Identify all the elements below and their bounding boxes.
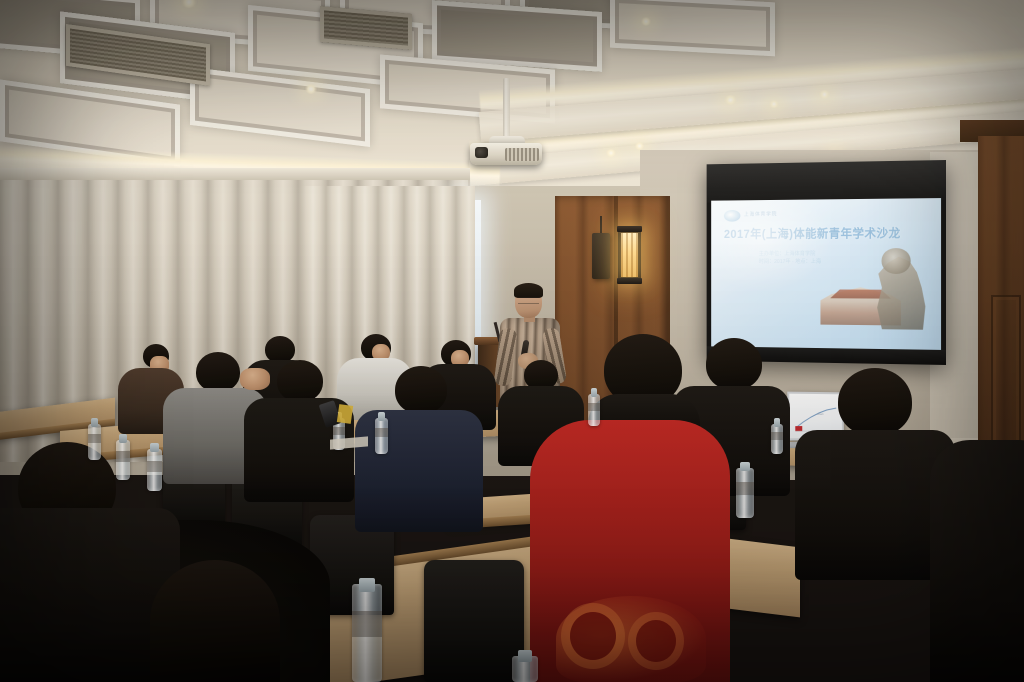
attendee-head (277, 360, 323, 402)
bottle-body (352, 584, 382, 682)
water-bottle[interactable] (736, 462, 754, 518)
downlight-icon (304, 84, 318, 94)
bottle-cap (150, 443, 158, 452)
bottle-label (333, 427, 345, 435)
slide-logo-icon (724, 210, 740, 222)
attendee-head (395, 366, 447, 414)
sconce-top-cap (617, 226, 642, 232)
water-bottle[interactable] (375, 412, 388, 454)
bottle-label (116, 451, 130, 461)
bottle-cap (91, 418, 98, 427)
projector-mount-pole (503, 78, 510, 140)
bottle-label (588, 403, 600, 411)
bottle-body (736, 468, 754, 518)
slide-logo-text: 上海体育学院 (744, 211, 777, 218)
projection-screen: 上海体育学院 2017年(上海)体能新青年学术沙龙 主办单位：上海体育学院 时间… (707, 160, 946, 365)
bottle-label (375, 428, 388, 437)
hoodie-print-glyph-2 (636, 620, 676, 662)
water-bottle[interactable] (116, 434, 130, 480)
sconce-glass-panel (621, 233, 638, 277)
eyeglasses-icon (518, 297, 539, 304)
bottle-cap (591, 388, 598, 397)
ceiling-coffer (610, 0, 775, 56)
smoke-detector-icon (640, 17, 652, 26)
slide-subtitle-line-1: 主办单位：上海体育学院 (759, 250, 821, 258)
water-bottle-foreground[interactable] (512, 650, 538, 682)
downlight-icon (605, 149, 617, 157)
water-bottle[interactable] (147, 443, 162, 491)
attendee-head (838, 368, 912, 436)
water-bottle[interactable] (588, 388, 600, 426)
bottle-body (588, 394, 600, 426)
conference-room-photo: 上海体育学院 2017年(上海)体能新青年学术沙龙 主办单位：上海体育学院 时间… (0, 0, 1024, 682)
slide-subtitle-line-2: 时间：2017年 · 地点：上海 (759, 258, 821, 266)
water-bottle-foreground[interactable] (352, 578, 382, 682)
bottle-label (736, 482, 754, 495)
downlight-icon (818, 90, 831, 99)
hoodie-print-glyph-1 (570, 612, 616, 660)
slide-title: 2017年(上海)体能新青年学术沙龙 (724, 224, 901, 242)
water-bottle[interactable] (88, 418, 101, 460)
bottle-label (147, 461, 162, 472)
bottle-body (147, 449, 162, 491)
bottle-cap (119, 434, 127, 443)
slide-stone-lion-head (882, 248, 911, 274)
bottle-body (88, 424, 101, 460)
bottle-label (771, 432, 783, 440)
downlight-icon (768, 100, 780, 108)
yellow-folder (337, 404, 353, 424)
bottle-label (88, 434, 101, 443)
bottle-label (352, 611, 382, 636)
attendee-head (196, 352, 240, 392)
bottle-body (375, 418, 388, 454)
wall-speaker (592, 233, 610, 279)
curtain-rail (0, 168, 470, 180)
attendee-hand (240, 368, 270, 390)
speaker-hair (514, 283, 543, 298)
screen-top-border (707, 160, 946, 203)
bottle-body (771, 424, 783, 454)
bottle-cap (740, 462, 750, 471)
attendee-head (265, 336, 295, 363)
downlight-icon (634, 142, 645, 150)
bottle-cap (378, 412, 385, 421)
downlight-icon (723, 95, 738, 105)
bottle-cap (774, 418, 781, 427)
water-bottle[interactable] (771, 418, 783, 454)
laptop-chart-graphic: chart (793, 402, 838, 432)
screen-display-area: 上海体育学院 2017年(上海)体能新青年学术沙龙 主办单位：上海体育学院 时间… (711, 198, 941, 350)
projector-lens-icon (475, 147, 488, 158)
sconce-bottom-cap (617, 278, 642, 284)
office-chair[interactable] (424, 560, 524, 682)
bottle-cap (518, 650, 533, 662)
projector-vent-icon (505, 148, 539, 161)
attendee-head (706, 338, 762, 390)
slide-subtitle: 主办单位：上海体育学院 时间：2017年 · 地点：上海 (759, 250, 821, 266)
bottle-body (116, 440, 130, 480)
svg-text:chart: chart (817, 412, 824, 416)
attendee-body (930, 440, 1024, 682)
bottle-cap (359, 578, 376, 592)
attendee-head (150, 560, 280, 682)
